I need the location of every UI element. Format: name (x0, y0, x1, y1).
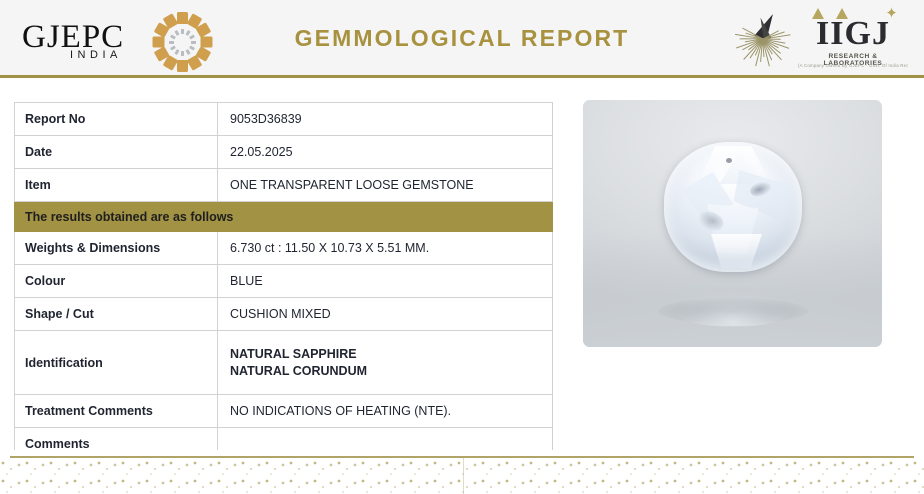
results-banner-row: The results obtained are as follows (15, 202, 553, 232)
table-row: IdentificationNATURAL SAPPHIRENATURAL CO… (15, 331, 553, 395)
row-value: NO INDICATIONS OF HEATING (NTE). (218, 395, 553, 428)
row-value: NATURAL SAPPHIRENATURAL CORUNDUM (218, 331, 553, 395)
gemmological-report-table: Report No9053D36839Date22.05.2025ItemONE… (14, 102, 553, 461)
gemstone-reflection (674, 292, 792, 327)
table-row: ColourBLUE (15, 265, 553, 298)
row-label: Treatment Comments (15, 395, 218, 428)
row-value: 9053D36839 (218, 103, 553, 136)
row-label: Item (15, 169, 218, 202)
table-row: ItemONE TRANSPARENT LOOSE GEMSTONE (15, 169, 553, 202)
iigj-starburst-icon (726, 7, 800, 71)
table-row: Weights & Dimensions6.730 ct : 11.50 X 1… (15, 232, 553, 265)
row-value: BLUE (218, 265, 553, 298)
footer-rule (10, 456, 914, 458)
sunburst-ray (177, 12, 188, 24)
table-row: Report No9053D36839 (15, 103, 553, 136)
report-footer (0, 450, 924, 494)
table-row: Treatment CommentsNO INDICATIONS OF HEAT… (15, 395, 553, 428)
gem-facet (708, 234, 766, 268)
row-value: 22.05.2025 (218, 136, 553, 169)
iigj-fineprint: (A Company Owned By GJEPC - Govt. Of Ind… (798, 63, 908, 68)
iigj-wordmark: IIGJ (804, 16, 902, 52)
row-value: 6.730 ct : 11.50 X 10.73 X 5.51 MM. (218, 232, 553, 265)
row-label: Weights & Dimensions (15, 232, 218, 265)
row-label: Identification (15, 331, 218, 395)
sunburst-ray (177, 60, 188, 72)
table-row: Date22.05.2025 (15, 136, 553, 169)
row-label: Colour (15, 265, 218, 298)
row-label: Shape / Cut (15, 298, 218, 331)
row-label: Date (15, 136, 218, 169)
gemstone-photograph (583, 100, 882, 347)
iigj-wordmark-block: ✦ IIGJ RESEARCH & LABORATORIES (A Compan… (804, 5, 902, 73)
footer-vertical-divider (463, 458, 464, 494)
gem-inclusion (726, 158, 732, 163)
report-header: GJEPC INDIA GEMMOLOGICAL REPORT ✦ IIGJ R… (0, 0, 924, 78)
table-row: Shape / CutCUSHION MIXED (15, 298, 553, 331)
gemstone-body (664, 142, 802, 272)
results-banner-label: The results obtained are as follows (15, 202, 553, 232)
report-body: Report No9053D36839Date22.05.2025ItemONE… (0, 78, 924, 450)
row-label: Report No (15, 103, 218, 136)
iigj-logo: ✦ IIGJ RESEARCH & LABORATORIES (A Compan… (726, 5, 902, 73)
footer-decorative-pattern (0, 460, 924, 494)
row-value: CUSHION MIXED (218, 298, 553, 331)
row-value: ONE TRANSPARENT LOOSE GEMSTONE (218, 169, 553, 202)
